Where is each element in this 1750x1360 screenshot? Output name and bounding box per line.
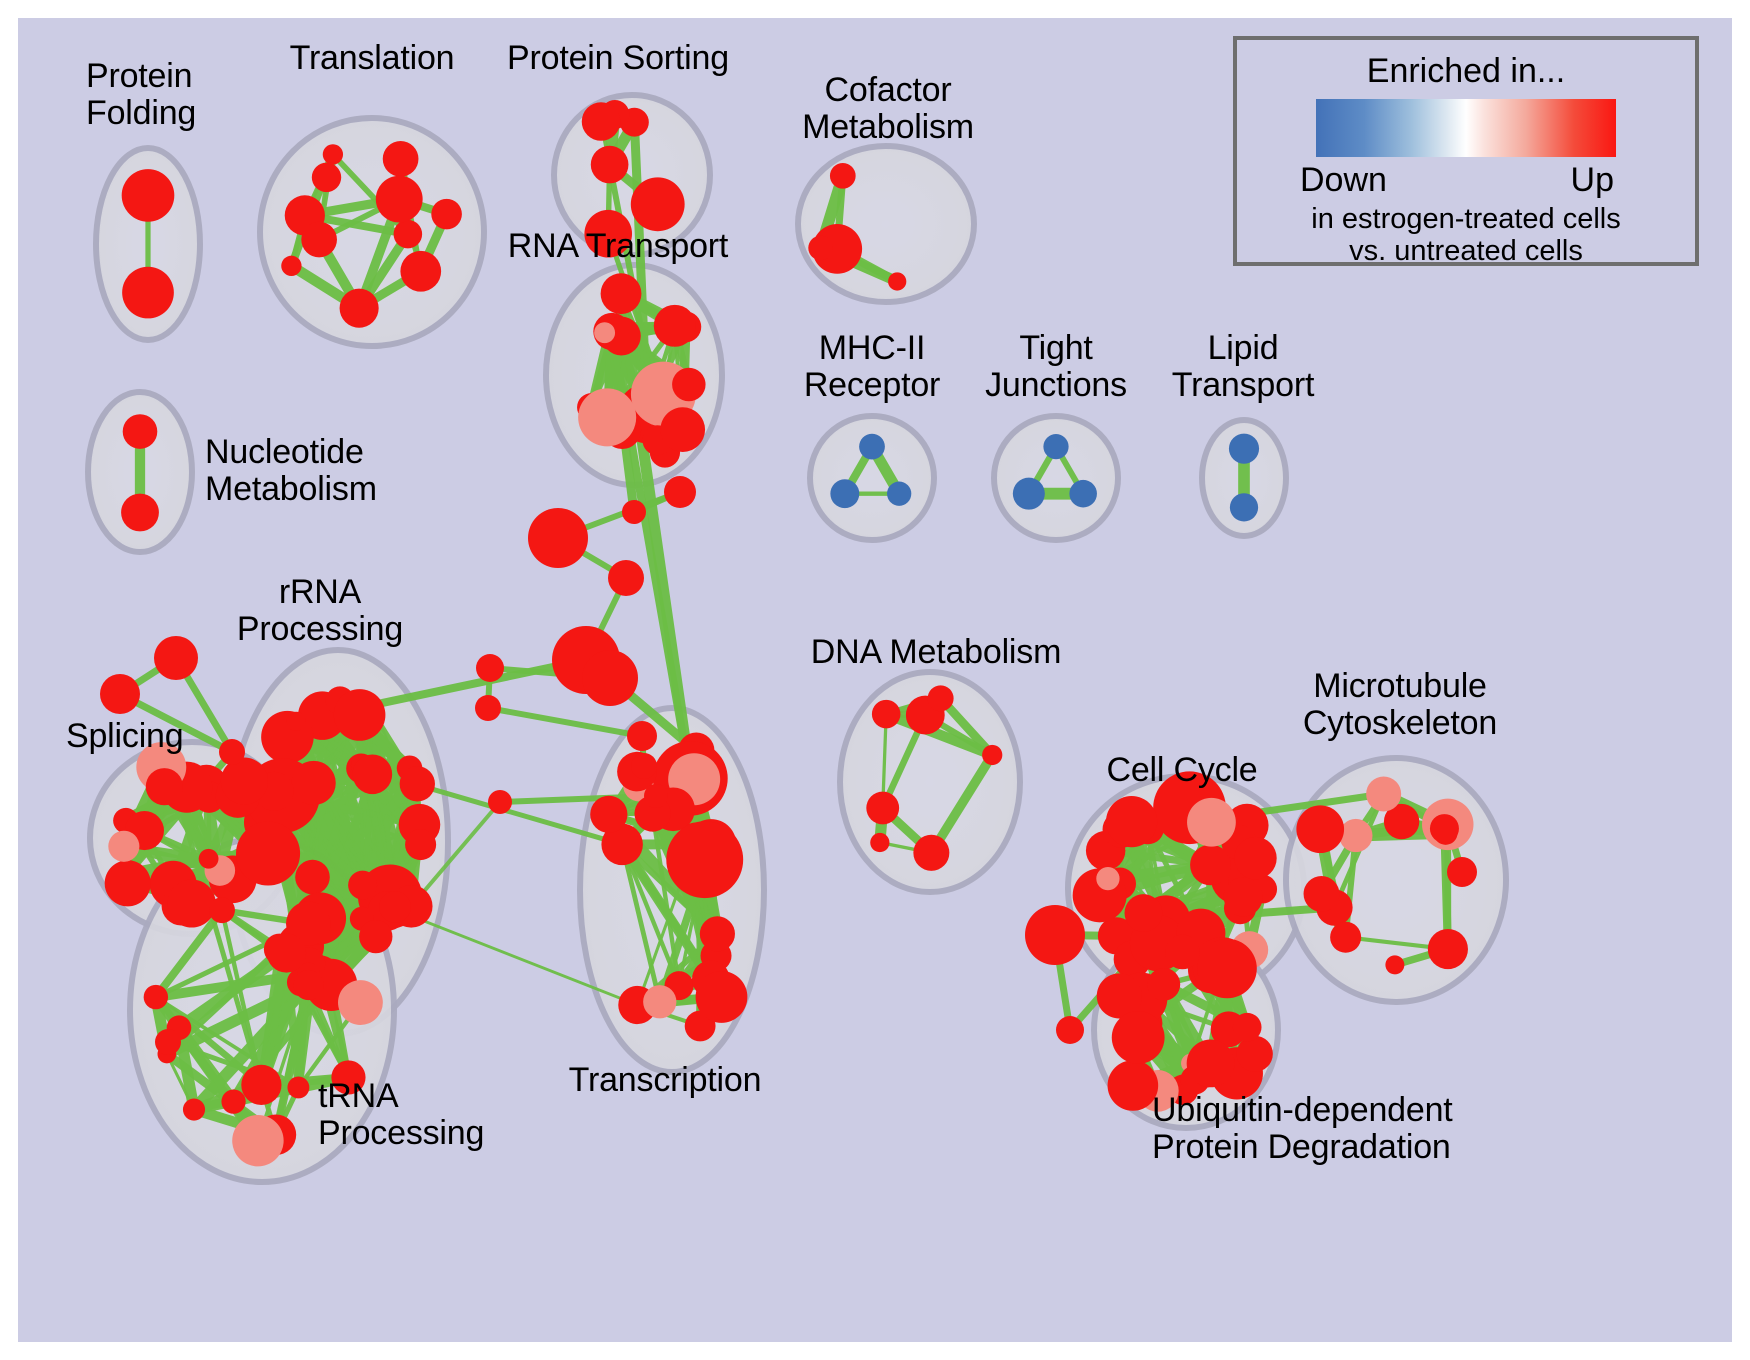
gene-set-node-cell-cycle — [1187, 798, 1236, 847]
gene-set-node-spine — [664, 476, 696, 508]
gene-set-node-dna-metabolism — [928, 685, 954, 711]
gene-set-node-cell-cycle — [1106, 796, 1157, 847]
gene-set-node-transcription — [696, 971, 748, 1023]
legend-low-label: Down — [1300, 161, 1387, 200]
cluster-label-cell-cycle: Cell Cycle — [1106, 752, 1257, 789]
gene-set-node-translation — [340, 289, 379, 328]
cluster-label-ubiquitin-degrad: Ubiquitin-dependent Protein Degradation — [1152, 1092, 1453, 1165]
gene-set-node-splicing — [108, 831, 139, 862]
gene-set-node-satellite — [154, 636, 198, 680]
gene-set-node-rrna-processing — [334, 689, 386, 741]
gene-set-node-trna-processing — [221, 1089, 245, 1113]
legend-colorbar — [1316, 99, 1616, 157]
gene-set-node-spine — [644, 784, 668, 808]
legend-title: Enriched in... — [1237, 52, 1695, 91]
gene-set-node-ubiquitin-degrad — [1165, 935, 1200, 970]
gene-set-node-rna-transport — [594, 322, 615, 343]
legend-caption-line1: in estrogen-treated cells — [1237, 203, 1695, 235]
gene-set-node-spine — [528, 508, 588, 568]
gene-set-node-splicing — [168, 879, 216, 927]
gene-set-node-satellite — [1447, 857, 1477, 887]
gene-set-node-microtubule — [1330, 922, 1361, 953]
gene-set-node-splicing — [236, 821, 300, 885]
gene-set-node-protein-sorting — [631, 177, 685, 231]
cluster-label-tight-junctions: Tight Junctions — [985, 330, 1127, 403]
gene-set-node-trna-processing — [232, 1115, 283, 1166]
gene-set-node-cell-cycle — [1096, 867, 1119, 890]
enrichment-map-figure: Protein FoldingTranslationProtein Sortin… — [0, 0, 1750, 1360]
gene-set-node-trna-processing — [338, 980, 383, 1025]
gene-set-node-rrna-processing — [379, 891, 411, 923]
legend-endpoints: Down Up — [1296, 161, 1636, 203]
cluster-label-lipid-transport: Lipid Transport — [1172, 330, 1314, 403]
gene-set-node-rrna-processing — [295, 860, 330, 895]
gene-set-node-cofactor-metab — [888, 272, 906, 290]
cluster-label-microtubule: Microtubule Cytoskeleton — [1303, 668, 1497, 741]
gene-set-node-microtubule — [1296, 805, 1344, 853]
gene-set-node-trna-processing — [293, 970, 323, 1000]
gene-set-node-ubiquitin-degrad — [1237, 1036, 1273, 1072]
cluster-label-dna-metabolism: DNA Metabolism — [811, 634, 1061, 671]
cluster-label-rna-transport: RNA Transport — [508, 228, 728, 265]
gene-set-node-ubiquitin-degrad — [1233, 1013, 1262, 1042]
cluster-label-translation: Translation — [290, 40, 455, 77]
gene-set-node-ubiquitin-degrad — [1112, 1011, 1165, 1064]
gene-set-node-rna-transport — [601, 273, 642, 314]
gene-set-node-ubiquitin-degrad — [1197, 939, 1257, 999]
gene-set-node-tight-junctions — [1069, 480, 1097, 508]
gene-set-node-satellite — [1056, 1016, 1084, 1044]
cluster-label-trna-processing: tRNA Processing — [318, 1078, 484, 1151]
cluster-label-rrna-processing: rRNA Processing — [237, 574, 403, 647]
gene-set-node-satellite — [155, 1029, 181, 1055]
gene-set-node-lipid-transport — [1230, 493, 1258, 521]
gene-set-node-protein-sorting — [591, 146, 629, 184]
gene-set-node-dna-metabolism — [982, 745, 1002, 765]
gene-set-node-rna-transport — [672, 368, 705, 401]
gene-set-node-trna-processing — [183, 1098, 205, 1120]
gene-set-node-translation — [400, 251, 441, 292]
cluster-label-mhc-ii-receptor: MHC-II Receptor — [804, 330, 940, 403]
gene-set-node-trna-processing — [267, 933, 306, 972]
gene-set-node-spine — [608, 560, 644, 596]
gene-set-node-tight-junctions — [1043, 434, 1068, 459]
gene-set-node-rrna-processing — [400, 766, 435, 801]
cluster-label-transcription: Transcription — [569, 1062, 762, 1099]
gene-set-node-ubiquitin-degrad — [1108, 1060, 1159, 1111]
gene-set-node-spine — [622, 500, 646, 524]
gene-set-node-protein-folding — [122, 267, 174, 319]
gene-set-node-microtubule — [1366, 776, 1401, 811]
gene-set-node-cofactor-metab — [830, 163, 856, 189]
cluster-label-protein-folding: Protein Folding — [86, 58, 196, 131]
gene-set-node-translation — [376, 176, 423, 223]
gene-set-node-protein-folding — [122, 169, 175, 222]
gene-set-node-rrna-processing — [287, 712, 306, 731]
gene-set-node-translation — [431, 199, 462, 230]
gene-set-node-dna-metabolism — [866, 792, 899, 825]
gene-set-node-transcription — [666, 821, 743, 898]
gene-set-node-translation — [281, 256, 301, 276]
gene-set-node-satellite — [219, 739, 245, 765]
gene-set-node-cell-cycle — [1234, 837, 1276, 879]
gene-set-node-spine — [627, 721, 657, 751]
gene-set-node-trna-processing — [209, 897, 235, 923]
gene-set-node-ubiquitin-degrad — [1187, 1040, 1235, 1088]
cluster-label-nucleotide-metab: Nucleotide Metabolism — [205, 434, 377, 507]
gene-set-node-protein-sorting — [582, 102, 621, 141]
gene-set-node-spine — [582, 650, 638, 706]
gene-set-node-rna-transport — [578, 388, 636, 446]
gene-set-node-trna-processing — [144, 985, 168, 1009]
gene-set-node-cell-cycle — [1125, 894, 1163, 932]
gene-set-node-spine — [476, 654, 504, 682]
gene-set-node-splicing — [199, 849, 219, 869]
gene-set-node-microtubule — [1339, 819, 1372, 852]
gene-set-node-translation — [312, 163, 341, 192]
gene-set-node-mhc-ii-receptor — [887, 482, 911, 506]
gene-set-node-microtubule — [1304, 876, 1340, 912]
gene-set-node-rrna-processing — [292, 761, 336, 805]
gene-set-node-translation — [301, 222, 337, 258]
gene-set-node-tight-junctions — [1013, 478, 1045, 510]
gene-set-node-lipid-transport — [1229, 434, 1259, 464]
gene-set-node-rrna-processing — [348, 871, 377, 900]
gene-set-node-satellite — [1025, 905, 1085, 965]
gene-set-node-transcription — [700, 916, 735, 951]
gene-set-node-dna-metabolism — [872, 700, 901, 729]
gene-set-node-mhc-ii-receptor — [830, 479, 859, 508]
gene-set-node-rrna-processing — [359, 920, 392, 953]
gene-set-node-mhc-ii-receptor — [859, 434, 885, 460]
gene-set-node-dna-metabolism — [870, 833, 889, 852]
gene-set-node-trna-processing — [287, 1077, 309, 1099]
gene-set-node-rrna-processing — [405, 829, 436, 860]
gene-set-node-spine — [631, 753, 657, 779]
legend-high-label: Up — [1571, 161, 1614, 200]
cluster-label-protein-sorting: Protein Sorting — [507, 40, 729, 77]
gene-set-node-transcription — [590, 796, 627, 833]
gene-set-node-splicing — [221, 758, 268, 805]
cluster-label-splicing: Splicing — [66, 718, 183, 755]
cluster-label-cofactor-metab: Cofactor Metabolism — [802, 72, 974, 145]
gene-set-node-nucleotide-metab — [121, 494, 159, 532]
gene-set-node-spine — [488, 790, 512, 814]
gene-set-node-rna-transport — [660, 407, 705, 452]
gene-set-node-translation — [323, 144, 343, 164]
gene-set-node-transcription — [643, 985, 676, 1018]
gene-set-node-satellite — [100, 674, 140, 714]
gene-set-node-splicing — [146, 768, 183, 805]
gene-set-node-microtubule — [1430, 814, 1459, 843]
gene-set-node-microtubule — [1428, 929, 1468, 969]
gene-set-node-splicing — [105, 860, 151, 906]
gene-set-node-rrna-processing — [353, 755, 393, 795]
legend-caption-line2: vs. untreated cells — [1237, 235, 1695, 267]
gene-set-node-cofactor-metab — [808, 236, 833, 261]
gene-set-node-dna-metabolism — [913, 835, 949, 871]
gene-set-node-rna-transport — [654, 305, 696, 347]
gene-set-node-translation — [394, 220, 423, 249]
gene-set-node-spine — [475, 695, 501, 721]
gene-set-node-translation — [383, 141, 419, 177]
gene-set-node-microtubule — [1385, 955, 1404, 974]
gene-set-node-ubiquitin-degrad — [1147, 968, 1180, 1001]
gene-set-node-cell-cycle — [1224, 877, 1263, 916]
legend: Enriched in... Down Up in estrogen-treat… — [1233, 36, 1699, 266]
gene-set-node-nucleotide-metab — [123, 414, 158, 449]
gene-set-node-trna-processing — [241, 1065, 281, 1105]
